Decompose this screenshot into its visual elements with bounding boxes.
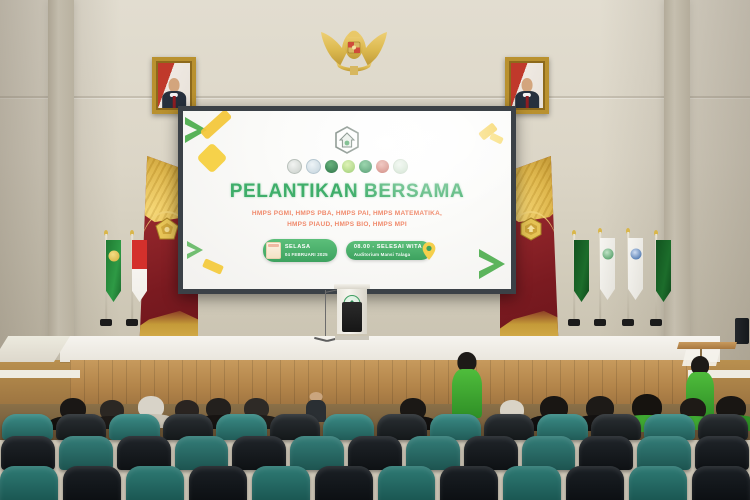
- auditorium-scene: PELANTIKAN BERSAMA HMPS PGMI, HMPS PBA, …: [0, 0, 750, 500]
- organization-green-flag: [98, 234, 114, 320]
- seat[interactable]: [440, 466, 498, 500]
- flag-stand: [126, 319, 138, 326]
- stage-surface: [60, 336, 720, 362]
- flag-emblem: [602, 249, 613, 260]
- seat[interactable]: [692, 466, 750, 500]
- seat[interactable]: [464, 436, 518, 470]
- slide-subtitle-line2: HMPS PIAUD, HMPS BIO, HMPS MPI: [252, 220, 442, 231]
- slide-title: PELANTIKAN BERSAMA: [230, 181, 465, 203]
- location-badge: 08.00 - SELESAI WITA Auditorium Mansi Ta…: [346, 241, 431, 260]
- mic-pole: [325, 290, 326, 336]
- seat[interactable]: [637, 436, 691, 470]
- location-badge-place: Auditorium Mansi Talaga: [354, 252, 422, 258]
- org-logo-6: [376, 160, 389, 173]
- seat[interactable]: [315, 466, 373, 500]
- podium-front-panel: [342, 302, 362, 332]
- indonesia-flag: [124, 234, 140, 320]
- portrait-head: [522, 78, 533, 92]
- seat[interactable]: [629, 466, 687, 500]
- date-badge-date: 04 FEBRUARI 2025: [285, 252, 328, 258]
- seat[interactable]: [63, 466, 121, 500]
- flag-cloth: [628, 238, 643, 300]
- org-logo-7: [393, 159, 408, 174]
- portrait-image: [509, 61, 545, 110]
- flag-stand: [594, 319, 606, 326]
- flag-stand: [568, 319, 580, 326]
- seat[interactable]: [695, 436, 749, 470]
- flag-cloth: [106, 240, 121, 302]
- flag-cloth: [656, 240, 671, 302]
- flag-emblem: [108, 251, 119, 262]
- flag-stand: [650, 319, 662, 326]
- slide-subtitle: HMPS PGMI, HMPS PBA, HMPS PAI, HMPS MATE…: [252, 209, 442, 230]
- presentation-slide: PELANTIKAN BERSAMA HMPS PGMI, HMPS PBA, …: [183, 111, 511, 289]
- org-logo-5: [359, 160, 372, 173]
- portrait-tie: [526, 96, 529, 108]
- flag-group-right: [566, 230, 706, 330]
- seat[interactable]: [290, 436, 344, 470]
- org-logo-3: [325, 160, 338, 173]
- seat[interactable]: [1, 436, 55, 470]
- seat-row-mid: [0, 436, 750, 470]
- white-green-emblem-flag: [592, 232, 608, 320]
- seat[interactable]: [579, 436, 633, 470]
- seat[interactable]: [117, 436, 171, 470]
- flag-emblem: [630, 249, 641, 260]
- location-pin-icon: [421, 241, 437, 260]
- seat-row-near: [0, 466, 750, 500]
- gold-pentagon-emblem: [154, 216, 180, 242]
- location-badge-time: 08.00 - SELESAI WITA: [354, 244, 422, 251]
- date-badge: SELASA 04 FEBRUARI 2025: [263, 239, 337, 262]
- org-logo-2: [306, 159, 321, 174]
- seat[interactable]: [175, 436, 229, 470]
- podium-base: [335, 336, 369, 340]
- seat[interactable]: [232, 436, 286, 470]
- org-logo-4: [342, 160, 355, 173]
- seat[interactable]: [252, 466, 310, 500]
- portrait-head: [169, 78, 180, 92]
- flag-cloth: [132, 240, 147, 302]
- portrait-image: [156, 61, 192, 110]
- seat[interactable]: [522, 436, 576, 470]
- seat[interactable]: [189, 466, 247, 500]
- org-logo-1: [287, 159, 302, 174]
- seat[interactable]: [348, 436, 402, 470]
- seat[interactable]: [378, 466, 436, 500]
- seat[interactable]: [0, 466, 58, 500]
- gold-carving-bottom: [500, 305, 562, 338]
- projection-screen: PELANTIKAN BERSAMA HMPS PGMI, HMPS PBA, …: [178, 106, 516, 294]
- audience-seating: [0, 396, 750, 500]
- stage-step-left: [0, 370, 80, 378]
- seat[interactable]: [59, 436, 113, 470]
- slide-subtitle-line1: HMPS PGMI, HMPS PBA, HMPS PAI, HMPS MATE…: [252, 209, 442, 220]
- white-blue-emblem-flag: [620, 232, 636, 320]
- seat[interactable]: [406, 436, 460, 470]
- flag-cloth: [600, 238, 615, 300]
- seat[interactable]: [503, 466, 561, 500]
- date-badge-day: SELASA: [285, 244, 328, 251]
- flag-stand: [622, 319, 634, 326]
- portrait-tie: [173, 96, 176, 108]
- slide-info-badges: SELASA 04 FEBRUARI 2025 08.00 - SELESAI …: [263, 239, 431, 262]
- flag-group-left: [96, 234, 156, 330]
- calendar-icon: [266, 242, 281, 259]
- seat[interactable]: [566, 466, 624, 500]
- organization-logos-row: [287, 159, 408, 174]
- flag-stand: [100, 319, 112, 326]
- institution-hexagon-logo: [334, 126, 360, 154]
- flag-cloth: [574, 240, 589, 302]
- seat[interactable]: [126, 466, 184, 500]
- microphone-stand: [312, 290, 340, 342]
- side-table-top: [677, 342, 737, 349]
- gold-hexagon-emblem: [518, 216, 544, 242]
- garuda-pancasila-emblem: [318, 22, 390, 78]
- pa-speaker: [735, 318, 749, 344]
- dark-green-flag-1: [566, 234, 582, 320]
- dark-green-flag-2: [648, 234, 664, 320]
- speaker-podium: [337, 284, 367, 340]
